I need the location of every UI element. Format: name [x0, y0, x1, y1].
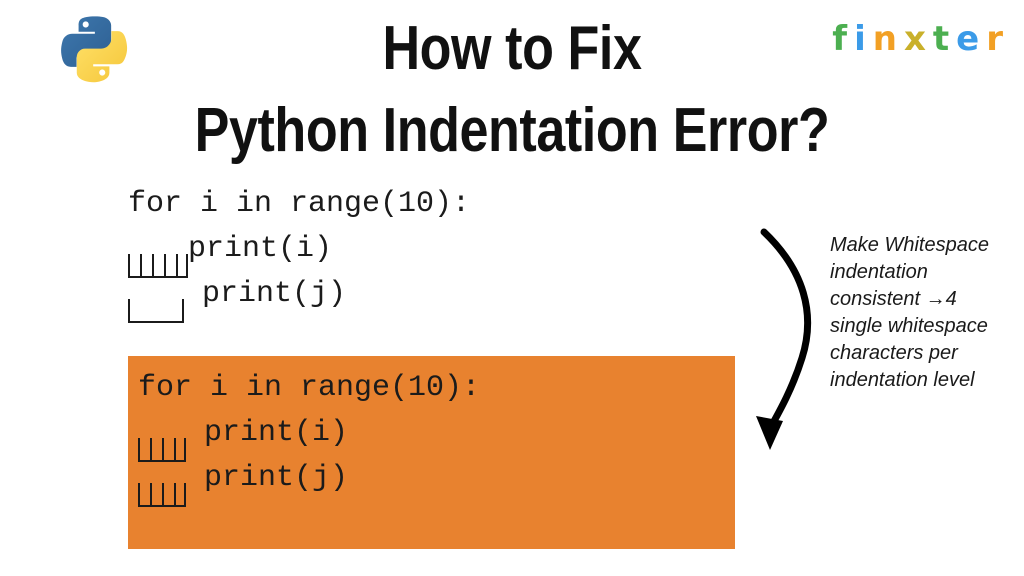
space-marker: [162, 438, 174, 462]
code-line: for i in range(10):: [138, 366, 480, 411]
fixed-code-panel: for i in range(10): print(i) print(j): [128, 356, 735, 549]
space-marker: [176, 254, 188, 278]
space-marker: [174, 438, 186, 462]
space-marker: [138, 483, 150, 507]
code-text: print(i): [188, 232, 332, 266]
space-marker: [152, 254, 164, 278]
code-line: print(j): [128, 272, 470, 317]
annotation-line-3-pre: consistent: [830, 288, 926, 310]
code-text: for i in range(10):: [138, 371, 480, 405]
code-line: print(i): [128, 227, 470, 272]
fixed-code-sample: for i in range(10): print(i) print(j): [138, 366, 480, 501]
space-marker: [150, 483, 162, 507]
slide-root: finxter How to Fix Python Indentation Er…: [0, 0, 1024, 576]
whitespace-marker-group: [128, 278, 184, 308]
right-arrow-icon: →: [926, 288, 946, 310]
page-title: How to Fix Python Indentation Error?: [0, 8, 1024, 172]
space-marker: [150, 438, 162, 462]
title-line-2: Python Indentation Error?: [82, 90, 942, 172]
annotation-line-5: characters per: [830, 340, 1022, 367]
code-text: print(j): [186, 461, 348, 495]
space-marker: [140, 254, 152, 278]
code-text: print(i): [186, 416, 348, 450]
code-text: print(j): [184, 277, 346, 311]
annotation-line-3: consistent →4: [830, 286, 1022, 313]
annotation-line-1: Make Whitespace: [830, 232, 1022, 259]
space-marker: [162, 483, 174, 507]
annotation-line-6: indentation level: [830, 367, 1022, 394]
code-line: for i in range(10):: [128, 182, 470, 227]
code-text: for i in range(10):: [128, 187, 470, 221]
whitespace-marker-group: [138, 417, 186, 447]
title-line-1: How to Fix: [82, 8, 942, 90]
space-marker: [164, 254, 176, 278]
whitespace-marker-group: [128, 233, 188, 263]
annotation-line-4: single whitespace: [830, 313, 1022, 340]
annotation-text: Make Whitespace indentation consistent →…: [830, 232, 1022, 394]
annotation-line-3-post: 4: [946, 288, 957, 310]
code-line: print(i): [138, 411, 480, 456]
code-line: print(j): [138, 456, 480, 501]
tab-marker: [128, 299, 184, 323]
whitespace-marker-group: [138, 462, 186, 492]
broken-code-sample: for i in range(10):print(i) print(j): [128, 182, 470, 317]
annotation-line-2: indentation: [830, 259, 1022, 286]
space-marker: [128, 254, 140, 278]
space-marker: [138, 438, 150, 462]
space-marker: [174, 483, 186, 507]
